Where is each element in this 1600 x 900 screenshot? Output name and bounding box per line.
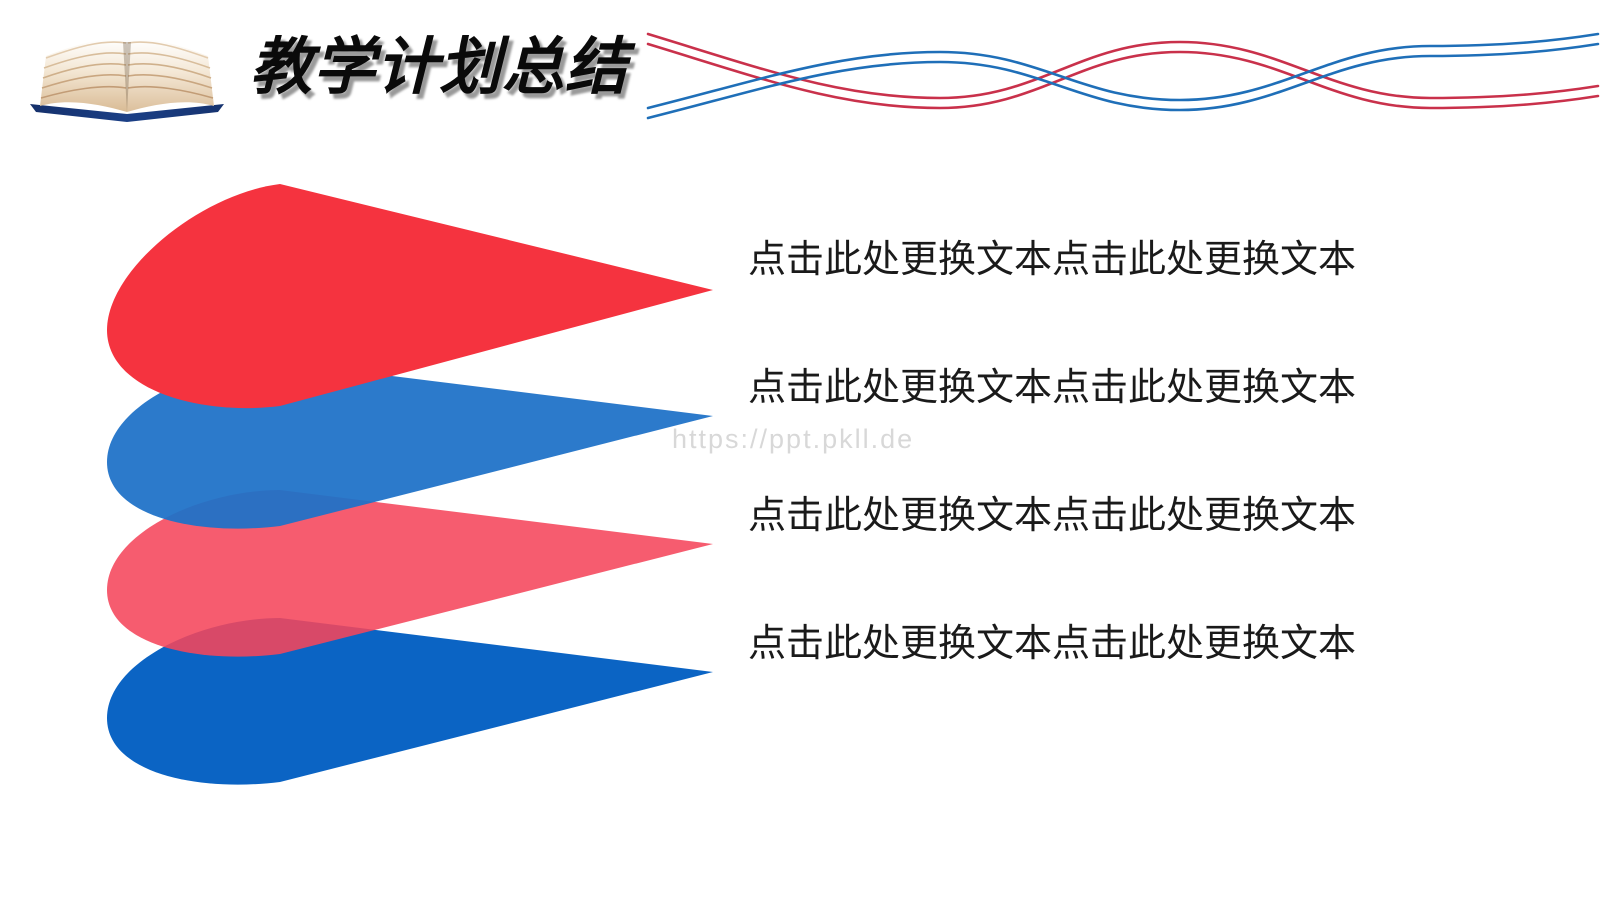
teardrop-shape-stack-render [95,170,735,790]
teardrop-shape-1 [107,184,713,408]
content-line-4[interactable]: 点击此处更换文本点击此处更换文本 [748,622,1548,666]
content-line-1[interactable]: 点击此处更换文本点击此处更换文本 [748,238,1548,282]
content-line-2[interactable]: 点击此处更换文本点击此处更换文本 [748,366,1548,410]
slide-header: 教学计划总结 [0,0,1600,130]
content-line-3[interactable]: 点击此处更换文本点击此处更换文本 [748,494,1548,538]
wave-decoration-icon [640,20,1600,120]
page-title: 教学计划总结 [250,24,640,112]
open-book-image [22,22,232,130]
